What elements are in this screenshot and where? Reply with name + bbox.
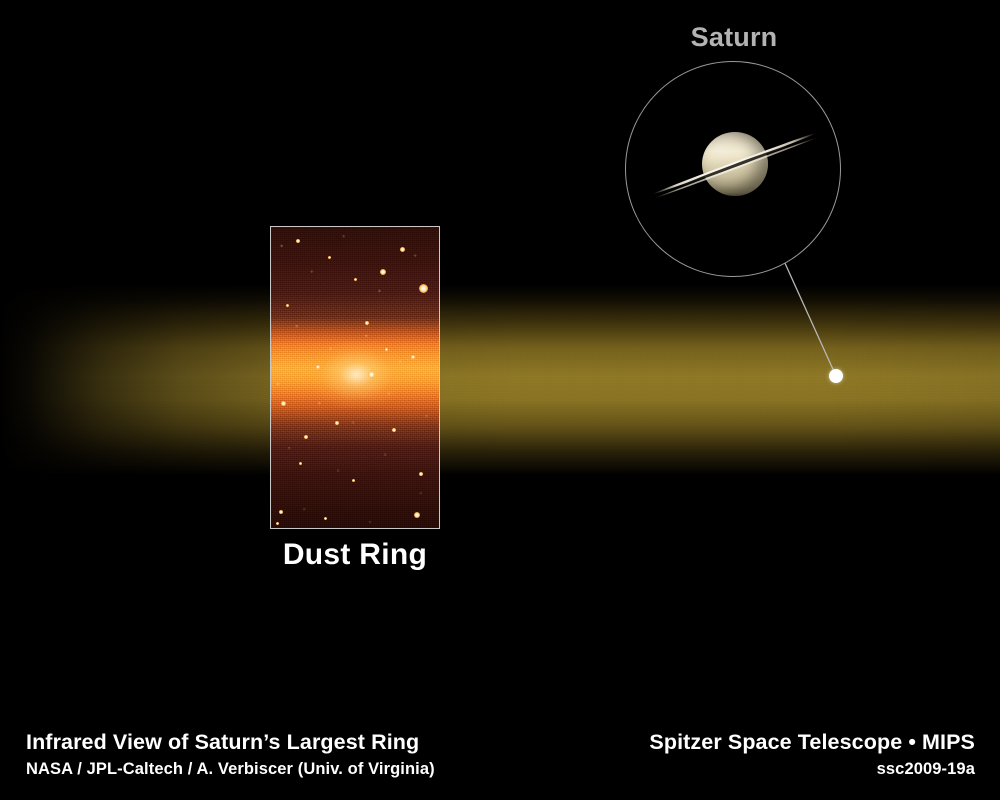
- point-source: [299, 462, 302, 465]
- caption-right: Spitzer Space Telescope • MIPS ssc2009-1…: [649, 729, 975, 780]
- point-source: [414, 512, 420, 518]
- point-source: [316, 365, 320, 369]
- saturn-position-marker-dot: [829, 369, 843, 383]
- point-source: [324, 517, 327, 520]
- caption-credit: NASA / JPL-Caltech / A. Verbiscer (Univ.…: [26, 758, 435, 780]
- point-source: [276, 522, 279, 525]
- point-source: [380, 269, 386, 275]
- point-source: [419, 284, 428, 293]
- dust-ring-core-glow: [311, 341, 402, 407]
- point-source: [335, 421, 339, 425]
- point-source: [279, 510, 283, 514]
- saturn-label: Saturn: [634, 22, 834, 53]
- point-source: [411, 355, 415, 359]
- point-source: [304, 435, 308, 439]
- caption-title: Infrared View of Saturn’s Largest Ring: [26, 729, 435, 755]
- caption-release-id: ssc2009-19a: [649, 758, 975, 780]
- point-source: [296, 239, 300, 243]
- caption-instrument: Spitzer Space Telescope • MIPS: [649, 729, 975, 755]
- leader-line: [0, 0, 1000, 800]
- leader-line-stroke: [784, 261, 836, 376]
- saturn-ring-shadow: [681, 144, 787, 186]
- point-source: [328, 256, 331, 259]
- spitzer-saturn-ring-image: Saturn Dust Ring Infrared View of Saturn…: [0, 0, 1000, 800]
- dust-ring-inset: [270, 226, 440, 529]
- point-source: [354, 278, 357, 281]
- point-source: [385, 348, 388, 351]
- point-source: [286, 304, 289, 307]
- caption-left: Infrared View of Saturn’s Largest Ring N…: [26, 729, 435, 780]
- point-source: [281, 401, 286, 406]
- point-source: [400, 247, 405, 252]
- point-source: [365, 321, 369, 325]
- point-source: [419, 472, 423, 476]
- point-source: [352, 479, 355, 482]
- point-source: [368, 371, 375, 378]
- point-source: [392, 428, 396, 432]
- dust-ring-caption: Dust Ring: [255, 538, 455, 572]
